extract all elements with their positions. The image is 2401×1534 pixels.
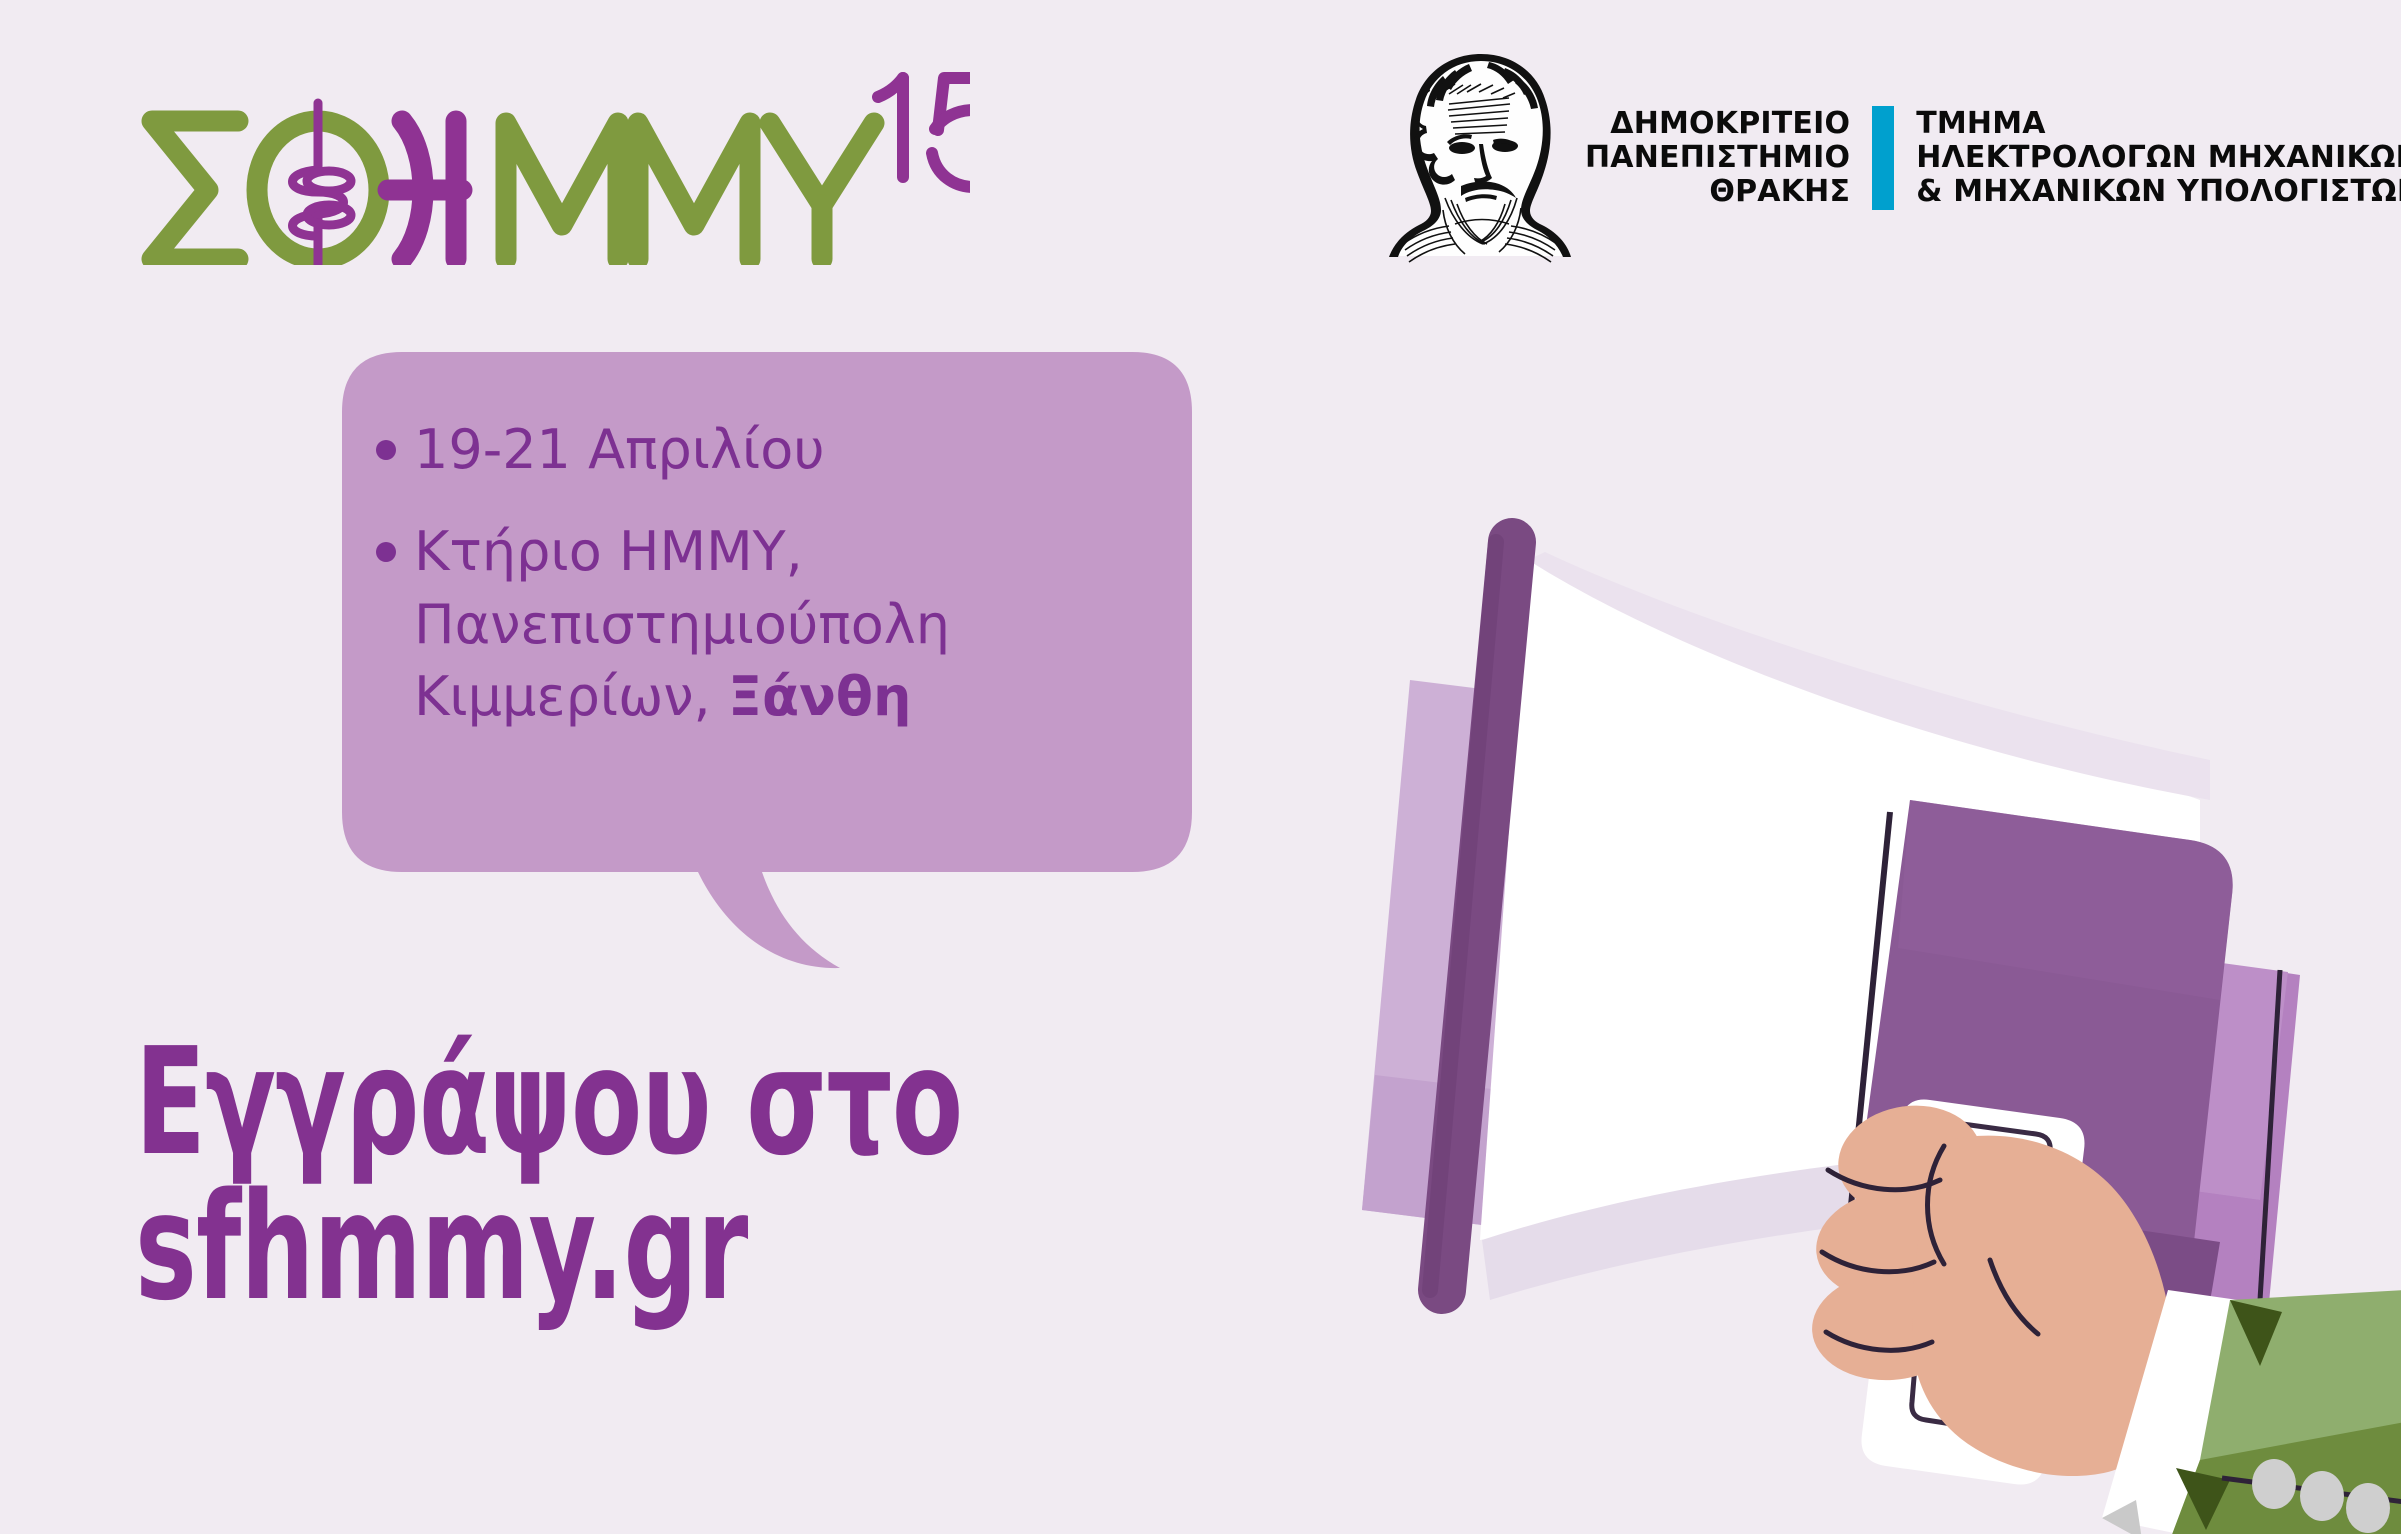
duth-logo: ΔΗΜΟΚΡΙΤΕΙΟ ΠΑΝΕΠΙΣΤΗΜΙΟ ΘΡΑΚΗΣ ΤΜΗΜΑ ΗΛ… [1385,48,2345,268]
duth-dept-line-2: ΗΛΕΚΤΡΟΛΟΓΩΝ ΜΗΧΑΝΙΚΩΝ [1916,141,2401,175]
hand-holding-megaphone-illustration [1330,500,2401,1534]
democritus-portrait-icon [1385,48,1575,268]
bullet-dot-icon [376,440,396,460]
bubble-item-date: 19-21 Απριλίου [414,414,1186,486]
logo-letter-sigma [152,121,238,259]
bubble-bullet-list: 19-21 Απριλίου Κτήριο ΗΜΜΥ, Πανεπιστημιο… [376,414,1186,763]
list-item: Κτήριο ΗΜΜΥ, Πανεπιστημιούπολη Κιμμερίων… [376,516,1186,733]
bubble-item-venue: Κτήριο ΗΜΜΥ, Πανεπιστημιούπολη Κιμμερίων… [414,516,1186,733]
logo-edition-15 [878,78,970,187]
info-speech-bubble: 19-21 Απριλίου Κτήριο ΗΜΜΥ, Πανεπιστημιο… [342,352,1192,962]
duth-line-2: ΠΑΝΕΠΙΣΤΗΜΙΟ [1585,141,1850,175]
duth-divider-bar [1872,106,1894,210]
duth-dept-line-1: ΤΜΗΜΑ [1916,107,2401,141]
bullet-dot-icon [376,542,396,562]
logo-letter-eta [388,121,462,259]
logo-letters-mmy [506,123,874,259]
duth-line-1: ΔΗΜΟΚΡΙΤΕΙΟ [1585,107,1850,141]
duth-department-name: ΤΜΗΜΑ ΗΛΕΚΤΡΟΛΟΓΩΝ ΜΗΧΑΝΙΚΩΝ & ΜΗΧΑΝΙΚΩΝ… [1894,107,2401,210]
duth-university-name: ΔΗΜΟΚΡΙΤΕΙΟ ΠΑΝΕΠΙΣΤΗΜΙΟ ΘΡΑΚΗΣ [1585,107,1872,210]
headline-line-2: sfhmmy.gr [135,1175,1071,1320]
duth-line-3: ΘΡΑΚΗΣ [1585,175,1850,209]
venue-city: Ξάνθη [728,665,912,728]
page-title: Εγγράψου στο sfhmmy.gr [135,1030,1071,1320]
list-item: 19-21 Απριλίου [376,414,1186,486]
duth-wordmark: ΔΗΜΟΚΡΙΤΕΙΟ ΠΑΝΕΠΙΣΤΗΜΙΟ ΘΡΑΚΗΣ ΤΜΗΜΑ ΗΛ… [1585,106,2401,210]
sfhmmy-logo [130,55,970,265]
poster-canvas: ΔΗΜΟΚΡΙΤΕΙΟ ΠΑΝΕΠΙΣΤΗΜΙΟ ΘΡΑΚΗΣ ΤΜΗΜΑ ΗΛ… [0,0,2401,1534]
headline-line-1: Εγγράψου στο [135,1030,1071,1175]
duth-dept-line-3: & ΜΗΧΑΝΙΚΩΝ ΥΠΟΛΟΓΙΣΤΩΝ [1916,175,2401,209]
